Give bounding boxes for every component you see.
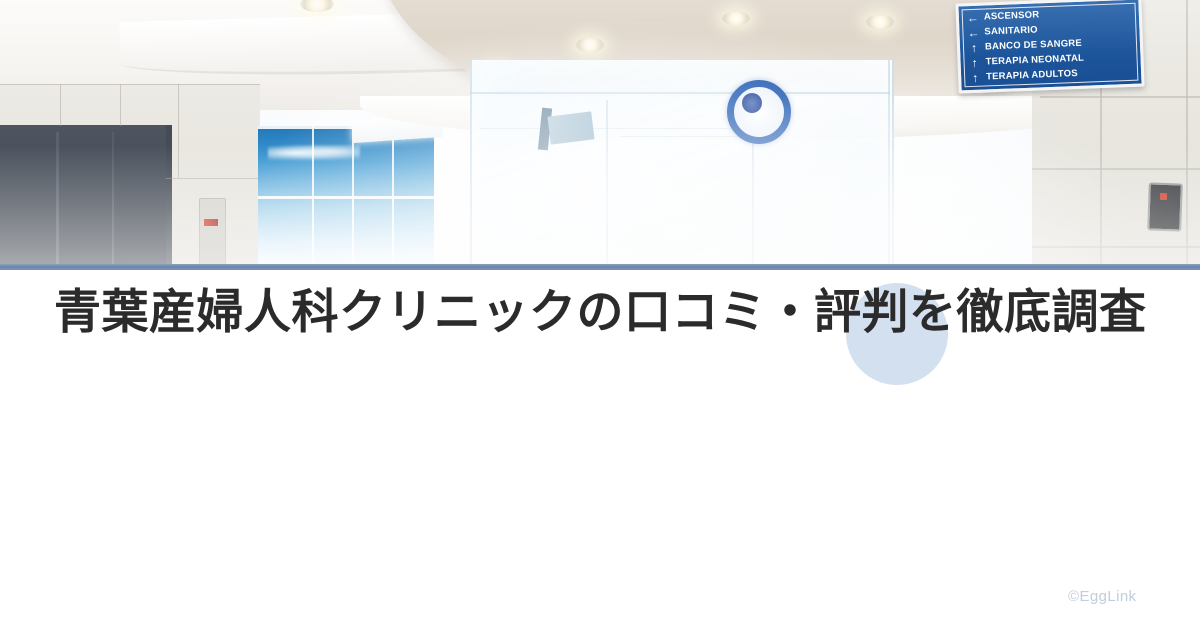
tile-grout-line	[1186, 0, 1188, 264]
wall-monitor	[547, 111, 594, 144]
window-mullion	[258, 196, 434, 199]
downlight-icon	[722, 12, 750, 25]
access-card-reader	[1147, 182, 1183, 231]
hero-image: ← ASCENSOR ← SANITARIO ↑ BANCO DE SANGRE…	[0, 0, 1200, 264]
downlight-icon	[576, 38, 604, 52]
ogp-card: ← ASCENSOR ← SANITARIO ↑ BANCO DE SANGRE…	[0, 0, 1200, 630]
wall-clock-emblem-icon	[727, 80, 791, 144]
glass-edge	[888, 60, 890, 264]
page-title: 青葉産婦人科クリニックの口コミ・評判を徹底調査	[54, 285, 1154, 340]
wall-clock-emblem-center	[742, 93, 762, 113]
sign-border	[962, 3, 1139, 88]
wall-seam	[166, 178, 262, 179]
elevator-call-panel	[199, 198, 226, 264]
tile-grout-line	[1032, 168, 1200, 170]
wall-seam	[120, 84, 121, 126]
elevator-doors	[0, 125, 172, 264]
elevator-indicator-led	[204, 219, 218, 226]
window-mullion	[352, 126, 354, 264]
hospital-directional-sign: ← ASCENSOR ← SANITARIO ↑ BANCO DE SANGRE…	[955, 0, 1144, 94]
card-reader-led	[1160, 193, 1167, 200]
window-mullion	[312, 126, 314, 264]
tile-grout-line	[1040, 96, 1200, 98]
elevator-door-seam	[56, 132, 59, 264]
watermark: ©EggLink	[1068, 588, 1136, 605]
glass-edge	[470, 92, 890, 94]
elevator-door-seam-secondary	[112, 132, 114, 264]
glass-cloud-reflection	[268, 145, 360, 161]
glass-partition	[470, 60, 894, 264]
window-mullion	[392, 126, 394, 264]
wall-seam	[178, 84, 179, 178]
wall-seam	[0, 84, 260, 85]
tile-grout-line	[1032, 246, 1200, 248]
wall-seam	[60, 84, 61, 126]
downlight-icon	[866, 15, 894, 29]
glass-edge	[606, 100, 608, 264]
